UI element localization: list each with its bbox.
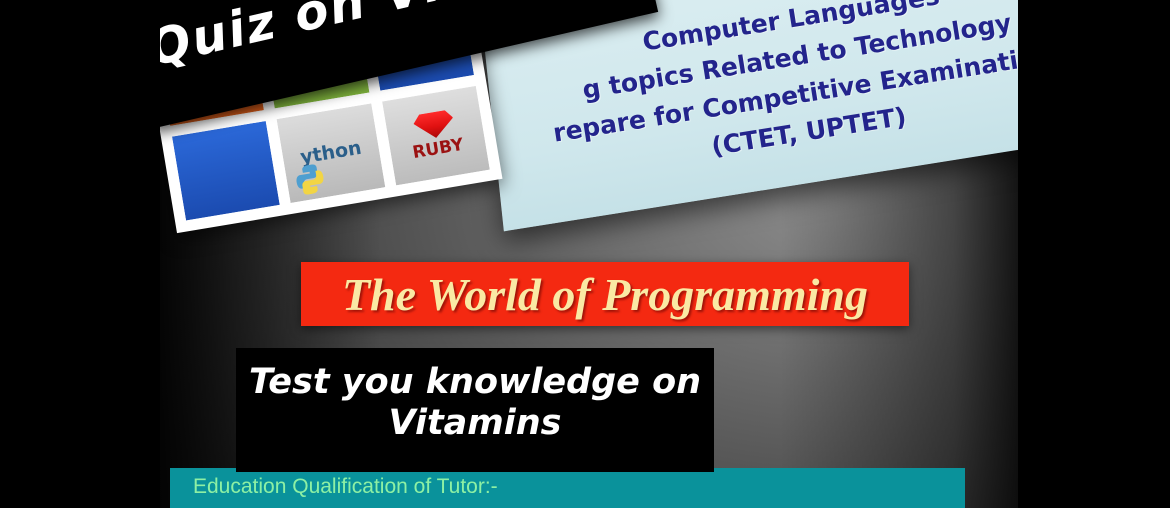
letterbox-left <box>0 0 160 508</box>
subtitle-text: Test you knowledge on Vitamins <box>249 348 701 443</box>
tile-blue-blank <box>170 118 283 223</box>
footer-bar: Education Qualification of Tutor:- <box>170 468 965 508</box>
tile-python: ython <box>275 101 388 206</box>
footer-label: Education Qualification of Tutor:- <box>193 475 498 499</box>
python-logo-icon <box>291 160 330 199</box>
subtitle-box: Test you knowledge on Vitamins <box>236 348 714 472</box>
tile-ruby: RUBY <box>379 83 492 188</box>
tile-ruby-label: RUBY <box>411 135 465 163</box>
slide-stage: ASP JS Java HTML Go C++ <box>0 0 1170 508</box>
title-banner-text: The World of Programming <box>342 268 868 321</box>
video-content-area: ASP JS Java HTML Go C++ <box>155 0 1023 508</box>
subtitle-line-1: Test you knowledge on <box>249 362 701 403</box>
letterbox-right <box>1018 0 1170 508</box>
subtitle-line-2: Vitamins <box>249 403 701 444</box>
title-banner: The World of Programming <box>301 262 909 326</box>
